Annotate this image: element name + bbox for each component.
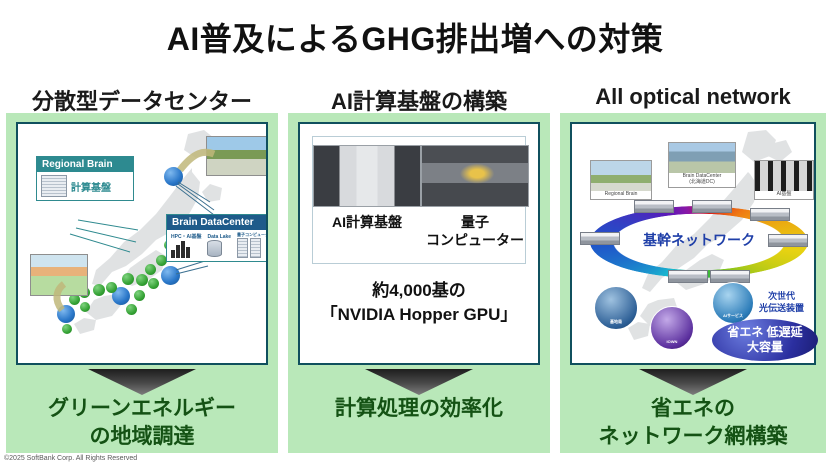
regional-brain-photo xyxy=(591,161,651,191)
globe-label: AIサービス xyxy=(713,314,753,318)
panel-arrow-icon xyxy=(639,369,747,395)
slide-root: AI普及によるGHG排出増への対策 分散型データセンター AI計算基盤の構築 A… xyxy=(0,0,830,466)
copyright-notice: ©2025 SoftBank Corp. All Rights Reserved xyxy=(4,455,137,462)
globe-label: 基地局 xyxy=(595,320,637,324)
ai-compute-item-caption: AI計算基盤 xyxy=(313,214,421,232)
panel-ai-compute: AI計算基盤 量子 コンピューター 約4,000基の 「NVIDIA Hoppe… xyxy=(288,113,550,453)
status-badge-energy: 省エネ 低遅延 大容量 xyxy=(712,319,818,361)
page-title: AI普及によるGHG排出増への対策 xyxy=(0,14,830,60)
globe-iown: IOWN xyxy=(650,306,694,350)
panel-distributed-datacenter: Regional Brain 計算基盤 Brain DataCenter HPC… xyxy=(6,113,278,453)
globe-base-station: 基地局 xyxy=(594,286,638,330)
globe-label: IOWN xyxy=(651,340,693,344)
optical-card-label: AI基盤 xyxy=(755,191,813,198)
ai-compute-item-caption: 量子 コンピューター xyxy=(421,214,529,249)
optical-node-icon xyxy=(580,232,620,245)
panel-arrow-icon xyxy=(365,369,473,395)
quantum-computer-photo xyxy=(421,145,529,207)
optical-node-icon xyxy=(768,234,808,247)
column-header-optical-network: All optical network xyxy=(560,84,826,110)
panel-ai-compute-figure: AI計算基盤 量子 コンピューター 約4,000基の 「NVIDIA Hoppe… xyxy=(298,122,540,365)
ai-compute-items-box: AI計算基盤 量子 コンピューター xyxy=(312,136,526,264)
ai-compute-note: 約4,000基の 「NVIDIA Hopper GPU」 xyxy=(308,279,530,327)
globe-ai-service: AIサービス xyxy=(712,282,754,324)
optical-card-ai-platform: AI基盤 xyxy=(754,160,814,200)
optical-node-icon xyxy=(750,208,790,221)
optical-node-icon xyxy=(634,200,674,213)
panel-distributed-dc-figure: Regional Brain 計算基盤 Brain DataCenter HPC… xyxy=(16,122,268,365)
optical-node-icon xyxy=(668,270,708,283)
optical-device-label: 次世代 光伝送装置 xyxy=(759,290,804,314)
column-header-ai-compute: AI計算基盤の構築 xyxy=(288,84,550,116)
optical-node-icon xyxy=(692,200,732,213)
optical-card-brain-datacenter: Brain DataCenter (北海道DC) xyxy=(668,142,736,188)
ai-platform-photo xyxy=(755,161,813,191)
flow-arrows xyxy=(18,124,266,363)
optical-card-regional-brain: Regional Brain xyxy=(590,160,652,200)
panel-caption-ai-compute: 計算処理の効率化 xyxy=(292,395,546,423)
column-header-distributed-dc: 分散型データセンター xyxy=(6,84,278,116)
optical-node-icon xyxy=(710,270,750,283)
optical-card-label: Brain DataCenter (北海道DC) xyxy=(669,173,735,186)
ai-compute-item: AI計算基盤 xyxy=(313,145,421,232)
ai-compute-item: 量子 コンピューター xyxy=(421,145,529,249)
panel-caption-optical-network: 省エネの ネットワーク網構築 xyxy=(564,395,822,450)
panel-arrow-icon xyxy=(88,369,196,395)
panel-caption-distributed-dc: グリーンエネルギー の地域調達 xyxy=(10,395,274,450)
server-hall-photo xyxy=(313,145,421,207)
panel-optical-network: Regional Brain Brain DataCenter (北海道DC) … xyxy=(560,113,826,453)
optical-card-label: Regional Brain xyxy=(591,191,651,198)
brain-datacenter-photo xyxy=(669,143,735,173)
